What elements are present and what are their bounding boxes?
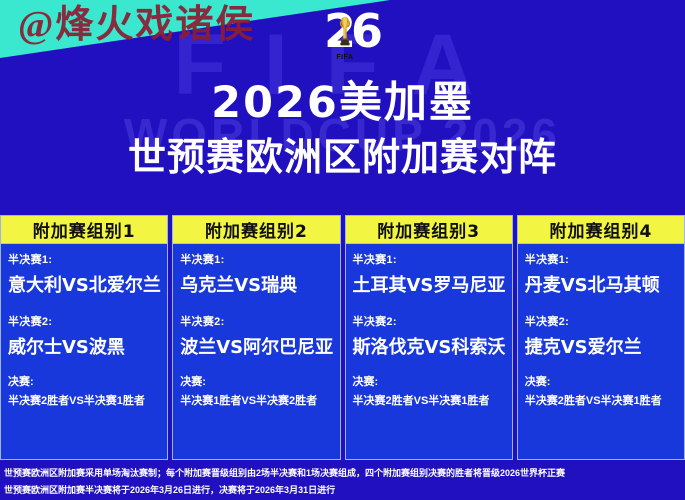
group-4-semifinal-2-label: 半决赛2: [525, 315, 677, 329]
fifa-world-cup-26-logo: 26 FIFA [324, 8, 366, 70]
spacer [353, 361, 505, 375]
group-3-semifinal-2-label: 半决赛2: [353, 315, 505, 329]
group-card-3: 附加赛组别3 半决赛1: 土耳其VS罗马尼亚 半决赛2: 斯洛伐克VS科索沃 决… [345, 215, 513, 460]
title-line-1: 2026美加墨 [0, 78, 685, 128]
group-card-2: 附加赛组别2 半决赛1: 乌克兰VS瑞典 半决赛2: 波兰VS阿尔巴尼亚 决赛:… [172, 215, 340, 460]
title-line-2: 世预赛欧洲区附加赛对阵 [0, 134, 685, 180]
spacer [180, 361, 332, 375]
group-card-4: 附加赛组别4 半决赛1: 丹麦VS北马其顿 半决赛2: 捷克VS爱尔兰 决赛: … [517, 215, 685, 460]
footer-notes: 世预赛欧洲区附加赛采用单场淘汰赛制；每个附加赛晋级组别由2场半决赛和1场决赛组成… [0, 462, 685, 500]
spacer [180, 299, 332, 315]
group-2-semifinal-2-label: 半决赛2: [180, 315, 332, 329]
group-2-final-match: 半决赛1胜者VS半决赛2胜者 [180, 394, 332, 409]
group-4-final-label: 决赛: [525, 375, 677, 389]
group-1-semifinal-2-label: 半决赛2: [8, 315, 160, 329]
group-3-semifinal-1-match: 土耳其VS罗马尼亚 [353, 273, 505, 299]
spacer [525, 299, 677, 315]
author-signature-watermark: @烽火戏诸侯 [18, 6, 255, 44]
group-4-semifinal-2-match: 捷克VS爱尔兰 [525, 335, 677, 361]
group-4-final-match: 半决赛2胜者VS半决赛1胜者 [525, 394, 677, 409]
group-2-semifinal-1-label: 半决赛1: [180, 253, 332, 267]
group-1-semifinal-2-match: 威尔士VS波黑 [8, 335, 160, 361]
playoff-groups-row: 附加赛组别1 半决赛1: 意大利VS北爱尔兰 半决赛2: 威尔士VS波黑 决赛:… [0, 215, 685, 460]
page-title: 2026美加墨 世预赛欧洲区附加赛对阵 [0, 78, 685, 180]
group-card-1: 附加赛组别1 半决赛1: 意大利VS北爱尔兰 半决赛2: 威尔士VS波黑 决赛:… [0, 215, 168, 460]
group-3-semifinal-1-label: 半决赛1: [353, 253, 505, 267]
group-2-semifinal-1-match: 乌克兰VS瑞典 [180, 273, 332, 299]
group-1-semifinal-1-match: 意大利VS北爱尔兰 [8, 273, 160, 299]
group-3-final-match: 半决赛2胜者VS半决赛1胜者 [353, 394, 505, 409]
group-card-4-title: 附加赛组别4 [518, 216, 684, 244]
spacer [525, 361, 677, 375]
footer-line-2: 世预赛欧洲区附加赛半决赛将于2026年3月26日进行，决赛将于2026年3月31… [4, 482, 681, 499]
group-1-final-match: 半决赛2胜者VS半决赛1胜者 [8, 394, 160, 409]
spacer [8, 299, 160, 315]
group-4-semifinal-1-match: 丹麦VS北马其顿 [525, 273, 677, 299]
group-2-final-label: 决赛: [180, 375, 332, 389]
group-card-3-title: 附加赛组别3 [346, 216, 512, 244]
group-card-1-title: 附加赛组别1 [1, 216, 167, 244]
group-card-2-title: 附加赛组别2 [173, 216, 339, 244]
group-card-2-body: 半决赛1: 乌克兰VS瑞典 半决赛2: 波兰VS阿尔巴尼亚 决赛: 半决赛1胜者… [173, 244, 339, 459]
group-card-3-body: 半决赛1: 土耳其VS罗马尼亚 半决赛2: 斯洛伐克VS科索沃 决赛: 半决赛2… [346, 244, 512, 459]
group-1-semifinal-1-label: 半决赛1: [8, 253, 160, 267]
spacer [353, 299, 505, 315]
group-card-4-body: 半决赛1: 丹麦VS北马其顿 半决赛2: 捷克VS爱尔兰 决赛: 半决赛2胜者V… [518, 244, 684, 459]
poster-root: FIFA WORLDCUP 2026 @烽火戏诸侯 26 FIFA 2026美加… [0, 0, 685, 500]
group-3-semifinal-2-match: 斯洛伐克VS科索沃 [353, 335, 505, 361]
group-4-semifinal-1-label: 半决赛1: [525, 253, 677, 267]
group-3-final-label: 决赛: [353, 375, 505, 389]
spacer [8, 361, 160, 375]
group-card-1-body: 半决赛1: 意大利VS北爱尔兰 半决赛2: 威尔士VS波黑 决赛: 半决赛2胜者… [1, 244, 167, 459]
world-cup-trophy-icon [337, 16, 353, 52]
group-2-semifinal-2-match: 波兰VS阿尔巴尼亚 [180, 335, 332, 361]
footer-line-1: 世预赛欧洲区附加赛采用单场淘汰赛制；每个附加赛晋级组别由2场半决赛和1场决赛组成… [4, 465, 681, 482]
logo-fifa-wordmark: FIFA [324, 54, 366, 61]
group-1-final-label: 决赛: [8, 375, 160, 389]
